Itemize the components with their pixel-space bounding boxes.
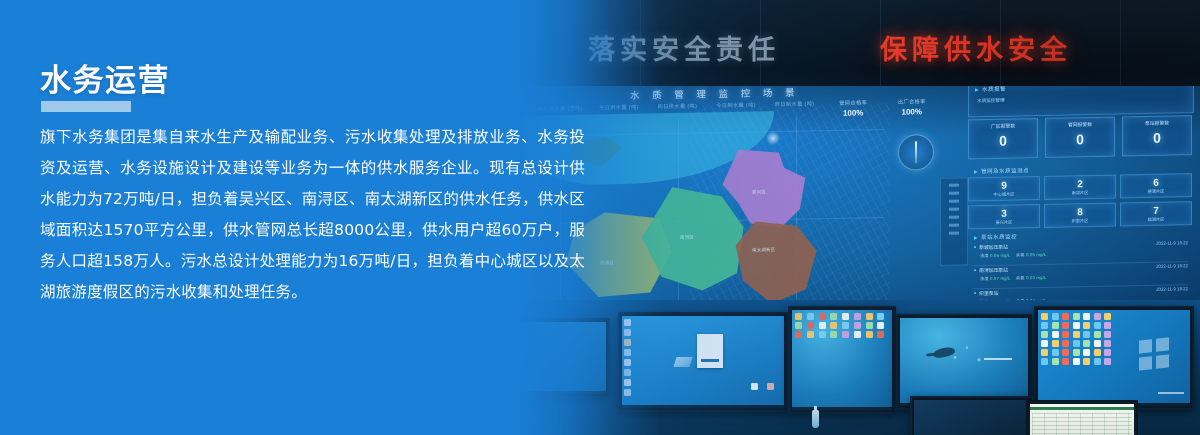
alarm-card-row: 厂区报警数 0 管网报警数 0 泵站报警数 0 — [968, 115, 1192, 159]
metric2-value: 0.03 mg/L — [1026, 275, 1046, 280]
metric1-value: 0.04 mg/L — [990, 253, 1010, 258]
dashboard-title: 水 质 管 理 监 控 场 景 — [630, 86, 799, 102]
water-bottle — [812, 410, 819, 428]
alarm-card[interactable]: 厂区报警数 0 — [968, 118, 1038, 159]
pump-station-list-header: 泵站水质监控 — [974, 232, 1017, 241]
desktop-icon-column — [624, 319, 631, 396]
monitoring-point-header: 管网及水质监测点 — [974, 166, 1029, 175]
compass-icon — [898, 134, 934, 171]
metric2-label: 余氯 — [1016, 252, 1025, 257]
row-metrics: 浊度 0.04 mg/L 余氯 0.05 mg/L — [980, 252, 1047, 259]
kpi-label: 出厂合格率 — [887, 98, 936, 106]
metric2-value: 0.05 mg/L — [1026, 252, 1046, 257]
monitoring-point-cell[interactable]: 2 南浔片区 — [1044, 175, 1116, 200]
bubbles-graphic — [951, 343, 991, 367]
row-title: 南浔加压泵站 — [974, 267, 1008, 275]
pump-station-list-panel: 泵站水质监控 新城加压泵站 2022-11-9 18:22 浊度 0.04 mg… — [968, 229, 1192, 305]
row-title: 新城加压泵站 — [974, 244, 1008, 252]
banner-root: 落实安全责任 保障供水安全 水 质 管 理 监 控 场 景 年总供水量 (万吨)… — [0, 0, 1200, 435]
map-layer-toolbar[interactable] — [940, 177, 968, 266]
monitoring-point-cell[interactable]: 9 中心城片区 — [968, 176, 1040, 201]
description-paragraph: 旗下水务集团是集自来水生产及输配业务、污水收集处理及排放业务、水务投资及运营、水… — [40, 122, 585, 308]
windows-desktop-monitor[interactable] — [1034, 306, 1194, 410]
title-underline-rule — [41, 101, 131, 112]
window-flag-graphic — [674, 357, 693, 367]
map-label-nantaihu: 南太湖新区 — [752, 247, 775, 253]
document-monitor[interactable] — [618, 312, 788, 412]
side-panel-title: 水质报警 — [975, 86, 1006, 93]
slogan-right: 保障供水安全 — [880, 28, 1072, 67]
water-quality-dashboard: 水 质 管 理 监 控 场 景 年总供水量 (万吨) 今日供水量 (吨) 昨日供… — [520, 86, 1200, 318]
operator-desk — [520, 300, 1200, 435]
alarm-card-label: 管网报警数 — [1046, 121, 1114, 129]
side-panel-subtitle: 水质监控管理 — [977, 98, 1005, 105]
kpi-value: 100% — [887, 107, 936, 117]
monitoring-point-cell[interactable]: 6 德清片区 — [1120, 173, 1192, 198]
activate-windows-watermark — [1158, 392, 1184, 394]
text-panel: 水务运营 旗下水务集团是集自来水生产及输配业务、污水收集处理及排放业务、水务投资… — [0, 0, 620, 435]
document-window — [697, 334, 723, 368]
dark-monitor-back[interactable] — [910, 396, 1034, 435]
metric2-label: 余氯 — [1016, 275, 1025, 280]
alarm-card-value: 0 — [1123, 129, 1191, 146]
alarm-card-value: 0 — [969, 132, 1037, 149]
cell-label: 吴兴片区 — [969, 219, 1039, 226]
alarm-card-value: 0 — [1046, 131, 1114, 148]
side-panel-header: 水质报警 水质监控管理 — [968, 86, 1194, 117]
cell-label: 南浔片区 — [1045, 190, 1115, 197]
windows-logo-icon — [1139, 337, 1169, 370]
cell-label: 织里片区 — [1045, 218, 1115, 225]
kpi-item-plant-rate: 出厂合格率 100% — [887, 98, 936, 125]
alarm-card[interactable]: 管网报警数 0 — [1045, 117, 1115, 158]
row-metrics: 浊度 0.07 mg/L 余氯 0.03 mg/L — [980, 275, 1047, 282]
map-label-wuxing: 吴兴区 — [752, 189, 766, 195]
laptop-spreadsheet[interactable] — [1026, 400, 1138, 435]
row-time: 2022-11-9 18:22 — [1156, 240, 1188, 246]
monitoring-point-cell[interactable]: 7 临湖片区 — [1120, 201, 1192, 226]
row-time: 2022-11-9 18:22 — [1156, 286, 1188, 292]
icon-grid-monitor[interactable] — [788, 306, 896, 414]
alarm-card-label: 泵站报警数 — [1123, 119, 1191, 127]
windows-desktop-icons — [1041, 313, 1113, 365]
cell-label: 临湖片区 — [1121, 216, 1191, 223]
metric1-label: 浊度 — [980, 276, 989, 281]
cell-label: 中心城片区 — [969, 191, 1039, 198]
monitoring-point-cell[interactable]: 8 织里片区 — [1044, 203, 1116, 228]
desktop-icon-grid — [795, 313, 887, 338]
metric1-label: 浊度 — [980, 253, 989, 258]
metric1-value: 0.07 mg/L — [990, 276, 1010, 281]
monitoring-point-panel: 管网及水质监测点 9 中心城片区 2 南浔片区 6 德清片区 — [968, 163, 1192, 229]
wallpaper-caption — [984, 358, 1012, 360]
row-title: 织里泵站 — [974, 290, 998, 297]
alarm-card-label: 厂区报警数 — [969, 122, 1037, 130]
alarm-card[interactable]: 泵站报警数 0 — [1122, 115, 1192, 156]
page-title: 水务运营 — [40, 55, 170, 100]
row-time: 2022-11-9 18:22 — [1156, 263, 1188, 269]
control-room-photo: 落实安全责任 保障供水安全 水 质 管 理 监 控 场 景 年总供水量 (万吨)… — [520, 0, 1200, 435]
map-label-nanxun: 南浔区 — [680, 235, 694, 241]
monitoring-point-grid: 9 中心城片区 2 南浔片区 6 德清片区 3 — [968, 173, 1192, 229]
monitoring-point-cell[interactable]: 3 吴兴片区 — [968, 204, 1040, 229]
cell-label: 德清片区 — [1121, 188, 1191, 195]
